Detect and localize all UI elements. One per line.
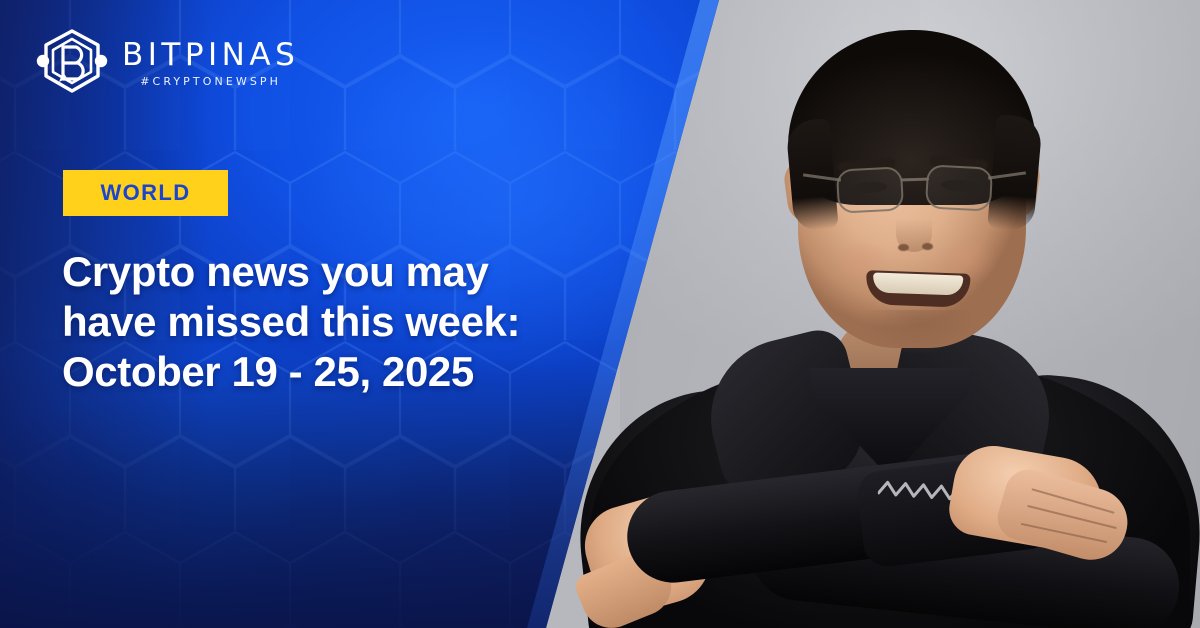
glasses-lens-right — [925, 164, 993, 211]
headline-line-1: Crypto news you may — [62, 247, 582, 297]
nostril-right — [922, 243, 933, 250]
headline: Crypto news you may have missed this wee… — [62, 247, 582, 397]
category-badge-label: WORLD — [100, 180, 190, 206]
bitpinas-logo[interactable]: BITPINAS #CRYPTONEWSPH — [36, 26, 299, 98]
chin-shadow — [860, 310, 972, 354]
teeth — [873, 272, 964, 295]
glasses-lens-left — [836, 166, 904, 213]
nostril-left — [898, 244, 909, 251]
brand-tagline: #CRYPTONEWSPH — [140, 76, 281, 87]
headline-line-3: October 19 - 25, 2025 — [62, 347, 582, 397]
category-badge[interactable]: WORLD — [63, 170, 228, 216]
bitpinas-hexagon-b-icon — [36, 26, 108, 98]
headline-line-2: have missed this week: — [62, 297, 582, 347]
bitpinas-news-banner: BITPINAS #CRYPTONEWSPH WORLD Crypto news… — [0, 0, 1200, 628]
logo-wordmark-group: BITPINAS #CRYPTONEWSPH — [122, 38, 299, 87]
brand-name: BITPINAS — [122, 40, 299, 71]
